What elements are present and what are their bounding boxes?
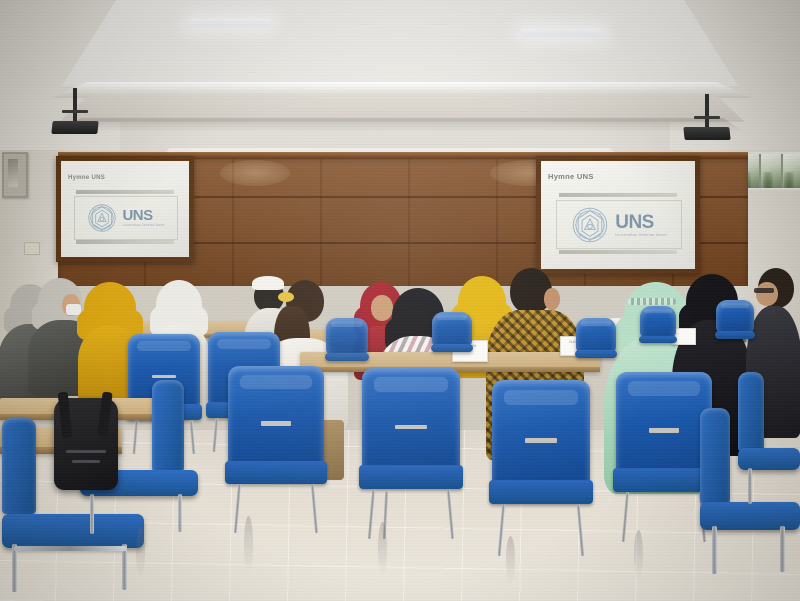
window-pane	[761, 154, 781, 188]
projector-mount-arm	[694, 116, 720, 119]
fluorescent-tube-light-right	[521, 28, 603, 37]
chair-seat	[225, 461, 327, 484]
chair-back-rest	[326, 318, 368, 355]
chair-leg	[498, 504, 505, 556]
chair-seat	[575, 350, 617, 358]
face-profile	[756, 282, 778, 306]
chair-back-7[interactable]	[716, 300, 754, 354]
screen-surface: Hymne UNS	[61, 161, 189, 257]
chair-seat	[359, 465, 463, 489]
floor-reflection	[136, 528, 145, 578]
backpack[interactable]	[54, 398, 118, 490]
chair-mid-3[interactable]	[616, 372, 712, 538]
chair-back-rest	[576, 318, 616, 353]
chair-mid-4[interactable]	[228, 366, 324, 530]
chair-mid-1[interactable]	[362, 368, 460, 536]
chair-leg	[234, 484, 241, 533]
uns-subtitle: Universitas Sebelas Maret	[615, 233, 667, 237]
uns-wordmark: UNS Universitas Sebelas Maret	[122, 208, 164, 227]
uns-subtitle: Universitas Sebelas Maret	[122, 224, 164, 227]
chair-seat	[431, 344, 473, 352]
chair-label	[152, 375, 175, 378]
chair-mid-2[interactable]	[492, 380, 590, 552]
uns-word: UNS	[615, 213, 654, 232]
chair-back-rest	[492, 380, 590, 487]
slide-decor-bar	[76, 240, 173, 244]
seminar-room-photo: Hymne UNS	[0, 0, 800, 601]
chair-foreground-right-2[interactable]	[738, 372, 800, 492]
uns-emblem-icon	[571, 206, 609, 244]
ceiling-tray-lip	[52, 82, 752, 98]
chair-leg	[577, 504, 584, 556]
projector-mount-pole	[73, 88, 77, 122]
slide-logo-area: UNS Universitas Sebelas Maret	[74, 196, 178, 240]
hijab	[156, 280, 202, 330]
slide-decor-bar	[76, 190, 173, 194]
framed-picture	[2, 152, 28, 198]
projector-mount-arm	[62, 110, 88, 113]
slide-logo-area: UNS Universitas Sebelas Maret	[556, 200, 681, 250]
chair-leg	[748, 468, 752, 504]
slide-decor-bar	[559, 250, 676, 254]
chair-back-rest	[738, 372, 764, 452]
ceiling-tray-recess	[62, 0, 738, 86]
hair-clip	[278, 292, 294, 302]
chair-back-6[interactable]	[640, 306, 676, 358]
slide-content: Hymne UNS	[61, 161, 189, 257]
chair-leg	[368, 489, 375, 539]
chair-seat	[738, 448, 800, 470]
chair-label	[261, 421, 292, 426]
chair-leg	[447, 489, 454, 539]
power-outlet-left	[24, 242, 40, 255]
uns-word: UNS	[122, 208, 152, 223]
chair-label	[395, 425, 426, 430]
screen-surface: Hymne UNS	[541, 161, 695, 269]
slide-title: Hymne UNS	[548, 172, 594, 181]
chair-leg	[178, 494, 182, 532]
chair-rail	[14, 546, 126, 551]
floor-reflection	[634, 530, 643, 580]
chair-label	[649, 428, 680, 433]
floor-reflection	[506, 536, 515, 584]
chair-leg	[780, 526, 785, 572]
backpack-zipper	[66, 450, 106, 453]
chair-leg	[90, 494, 94, 534]
uns-wordmark: UNS Universitas Sebelas Maret	[615, 213, 667, 237]
projector-body	[51, 121, 98, 134]
chair-leg	[311, 484, 318, 533]
chair-back-rest	[432, 312, 472, 347]
chair-label	[525, 438, 556, 443]
slide-content: Hymne UNS	[541, 161, 695, 269]
chair-seat	[325, 353, 370, 361]
projector-body	[683, 127, 730, 140]
chair-back-rest	[362, 368, 460, 472]
chair-leg	[622, 491, 629, 541]
chair-leg	[213, 418, 219, 452]
floor-reflection	[244, 516, 253, 572]
projector-mount-pole	[705, 94, 709, 128]
chair-leg	[12, 544, 17, 592]
chair-back-rest	[640, 306, 676, 338]
wood-panel-glare	[220, 160, 290, 186]
name-card-text	[673, 329, 695, 331]
chair-seat	[489, 480, 593, 504]
chair-back-rest	[152, 380, 184, 472]
ceiling-tray-shadow	[60, 118, 744, 132]
chair-back-rest	[616, 372, 712, 475]
backpack-strap	[58, 392, 73, 439]
chair-seat	[639, 336, 677, 343]
chair-leg	[712, 526, 717, 574]
face-profile	[544, 288, 560, 310]
chair-back-5[interactable]	[576, 318, 616, 374]
slide-title: Hymne UNS	[68, 175, 105, 181]
fluorescent-tube-light-left	[189, 18, 271, 27]
backpack-zipper	[72, 460, 100, 463]
eyeglasses-icon	[754, 288, 774, 293]
hijab-trim	[628, 298, 676, 305]
chair-back-rest	[700, 408, 730, 504]
chair-back-rest	[2, 418, 36, 514]
floor-reflection	[378, 522, 387, 576]
chair-seat	[715, 331, 755, 339]
projection-screen-left: Hymne UNS	[56, 156, 194, 262]
backpack-strap	[97, 392, 112, 437]
chair-back-rest	[228, 366, 324, 468]
projection-screen-right: Hymne UNS	[536, 156, 700, 274]
chair-back-4[interactable]	[432, 312, 472, 368]
chair-back-rest	[716, 300, 754, 333]
slide-decor-bar	[559, 193, 676, 197]
uns-emblem-icon	[87, 203, 117, 233]
window-pane	[783, 154, 800, 188]
